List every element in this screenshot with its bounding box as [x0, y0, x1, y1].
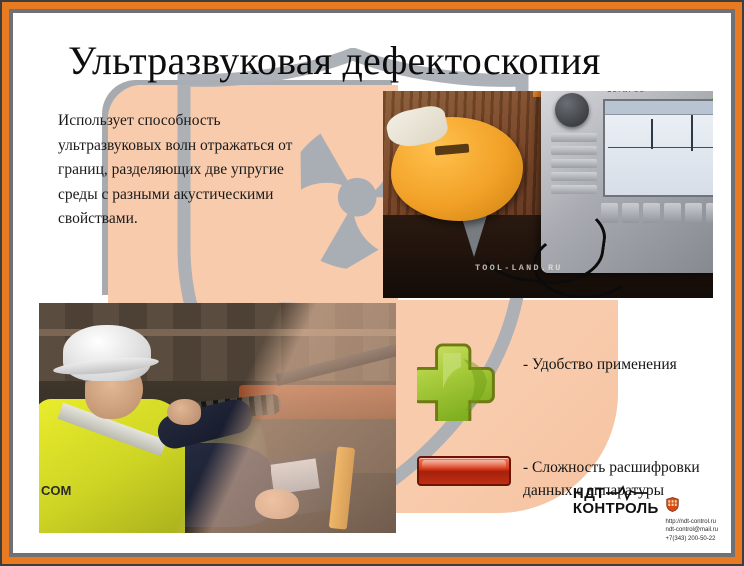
logo-wordmark: НДТ КОНТРОЛЬ: [573, 485, 659, 517]
photo-flaw-detector: OLYMPUS TOOL-LAND.RU: [383, 91, 713, 298]
logo-line-1: НДТ: [573, 486, 605, 501]
description-text: Использует способность ультразвуковых во…: [58, 109, 318, 232]
a-scan-peak: [651, 119, 653, 149]
company-logo[interactable]: НДТ КОНТРОЛЬ http://ndt-control.ru ndt-c…: [573, 485, 718, 543]
function-key-row: [601, 203, 713, 223]
page-title: Ультразвуковая дефектоскопия: [68, 35, 708, 87]
logo-line-2: КОНТРОЛЬ: [573, 501, 659, 517]
bullet-advantage: - Удобство применения: [523, 353, 723, 376]
crest-icon: [666, 497, 679, 512]
brand-label: OLYMPUS: [607, 91, 645, 94]
detector-screen: [603, 99, 713, 197]
red-minus-icon: [417, 456, 511, 486]
photo-salmon-overlay: [39, 303, 396, 533]
photo-technician: COM: [39, 303, 396, 533]
logo-phone: +7(343) 200-50-22: [666, 535, 718, 543]
waveform-icon: [606, 485, 648, 501]
keypad: [551, 133, 597, 203]
slide-frame: Ультразвуковая дефектоскопия Использует …: [0, 0, 744, 566]
screen-toolbar: [605, 101, 713, 115]
photo-watermark: TOOL-LAND.RU: [475, 263, 563, 273]
rotary-knob-icon: [555, 93, 589, 127]
a-scan-peak-2: [691, 115, 693, 151]
slide-canvas: Ультразвуковая дефектоскопия Использует …: [13, 13, 731, 553]
logo-website[interactable]: http://ndt-control.ru: [666, 518, 718, 526]
logo-contact-block: http://ndt-control.ru ndt-control@mail.r…: [666, 485, 718, 543]
a-scan-baseline: [608, 147, 713, 148]
green-plus-icon: [417, 343, 495, 421]
logo-email[interactable]: ndt-control@mail.ru: [666, 526, 718, 534]
